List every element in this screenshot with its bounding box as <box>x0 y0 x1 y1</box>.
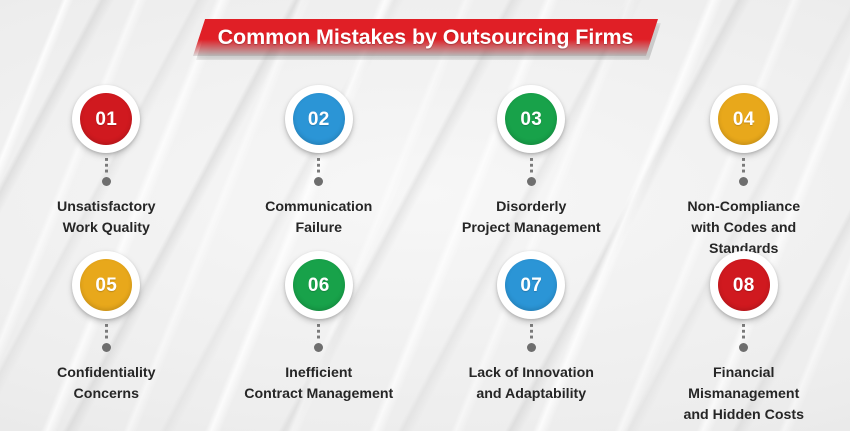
mistake-label-01: Unsatisfactory Work Quality <box>6 197 206 239</box>
number-badge-01[interactable]: 01 <box>72 85 140 153</box>
badge-number-text: 01 <box>95 110 117 129</box>
dotted-line-icon <box>105 158 108 175</box>
number-badge-fill-03: 03 <box>505 93 557 145</box>
badge-number-text: 04 <box>733 110 755 129</box>
dotted-connector-05 <box>102 324 111 352</box>
title-banner: Common Mistakes by Outsourcing Firms <box>193 19 658 56</box>
label-line: and Hidden Costs <box>644 405 844 426</box>
dotted-connector-07 <box>527 324 536 352</box>
badge-number-text: 05 <box>95 276 117 295</box>
dotted-connector-02 <box>314 158 323 186</box>
dotted-connector-03 <box>527 158 536 186</box>
label-line: Confidentiality <box>6 363 206 384</box>
label-line: Contract Management <box>219 384 419 405</box>
dotted-line-icon <box>317 324 320 341</box>
dotted-line-icon <box>530 158 533 175</box>
label-line: and Adaptability <box>431 384 631 405</box>
badge-number-text: 08 <box>733 276 755 295</box>
number-badge-fill-04: 04 <box>718 93 770 145</box>
mistake-item-01[interactable]: 01 Unsatisfactory Work Quality <box>0 85 213 260</box>
badge-number-text: 07 <box>520 276 542 295</box>
number-badge-03[interactable]: 03 <box>497 85 565 153</box>
connector-end-dot-icon <box>527 343 536 352</box>
number-badge-08[interactable]: 08 <box>710 251 778 319</box>
title-banner-shape: Common Mistakes by Outsourcing Firms <box>193 19 658 56</box>
label-line: Inefficient <box>219 363 419 384</box>
mistake-item-08[interactable]: 08 Financial Mismanagement and Hidden Co… <box>638 251 850 426</box>
number-badge-fill-07: 07 <box>505 259 557 311</box>
number-badge-fill-01: 01 <box>80 93 132 145</box>
item-row-second: 05 Confidentiality Concerns 06 <box>0 251 850 426</box>
connector-end-dot-icon <box>527 177 536 186</box>
mistake-label-08: Financial Mismanagement and Hidden Costs <box>644 363 844 426</box>
badge-number-text: 03 <box>520 110 542 129</box>
badge-number-text: 02 <box>308 110 330 129</box>
label-line: with Codes and <box>644 218 844 239</box>
label-line: Failure <box>219 218 419 239</box>
dotted-line-icon <box>742 324 745 341</box>
mistake-item-04[interactable]: 04 Non-Compliance with Codes and Standar… <box>638 85 850 260</box>
dotted-line-icon <box>105 324 108 341</box>
mistake-label-05: Confidentiality Concerns <box>6 363 206 405</box>
label-line: Non-Compliance <box>644 197 844 218</box>
mistake-item-02[interactable]: 02 Communication Failure <box>213 85 426 260</box>
label-line: Concerns <box>6 384 206 405</box>
item-row-first: 01 Unsatisfactory Work Quality 02 <box>0 85 850 260</box>
number-badge-02[interactable]: 02 <box>285 85 353 153</box>
mistake-label-02: Communication Failure <box>219 197 419 239</box>
page-title: Common Mistakes by Outsourcing Firms <box>218 25 634 50</box>
connector-end-dot-icon <box>102 343 111 352</box>
number-badge-fill-06: 06 <box>293 259 345 311</box>
label-line: Project Management <box>431 218 631 239</box>
mistake-item-05[interactable]: 05 Confidentiality Concerns <box>0 251 213 426</box>
number-badge-fill-02: 02 <box>293 93 345 145</box>
connector-end-dot-icon <box>739 177 748 186</box>
dotted-line-icon <box>530 324 533 341</box>
connector-end-dot-icon <box>102 177 111 186</box>
connector-end-dot-icon <box>314 177 323 186</box>
number-badge-fill-08: 08 <box>718 259 770 311</box>
connector-end-dot-icon <box>739 343 748 352</box>
number-badge-fill-05: 05 <box>80 259 132 311</box>
infographic-canvas: Common Mistakes by Outsourcing Firms 01 … <box>0 0 850 431</box>
label-line: Lack of Innovation <box>431 363 631 384</box>
dotted-line-icon <box>742 158 745 175</box>
badge-number-text: 06 <box>308 276 330 295</box>
number-badge-06[interactable]: 06 <box>285 251 353 319</box>
dotted-connector-08 <box>739 324 748 352</box>
dotted-line-icon <box>317 158 320 175</box>
mistake-label-06: Inefficient Contract Management <box>219 363 419 405</box>
dotted-connector-04 <box>739 158 748 186</box>
connector-end-dot-icon <box>314 343 323 352</box>
number-badge-07[interactable]: 07 <box>497 251 565 319</box>
mistake-label-07: Lack of Innovation and Adaptability <box>431 363 631 405</box>
label-line: Unsatisfactory <box>6 197 206 218</box>
mistake-label-03: Disorderly Project Management <box>431 197 631 239</box>
dotted-connector-01 <box>102 158 111 186</box>
label-line: Disorderly <box>431 197 631 218</box>
number-badge-04[interactable]: 04 <box>710 85 778 153</box>
mistake-item-07[interactable]: 07 Lack of Innovation and Adaptability <box>425 251 638 426</box>
dotted-connector-06 <box>314 324 323 352</box>
mistake-item-03[interactable]: 03 Disorderly Project Management <box>425 85 638 260</box>
number-badge-05[interactable]: 05 <box>72 251 140 319</box>
label-line: Communication <box>219 197 419 218</box>
mistake-item-06[interactable]: 06 Inefficient Contract Management <box>213 251 426 426</box>
label-line: Work Quality <box>6 218 206 239</box>
label-line: Financial <box>644 363 844 384</box>
label-line: Mismanagement <box>644 384 844 405</box>
